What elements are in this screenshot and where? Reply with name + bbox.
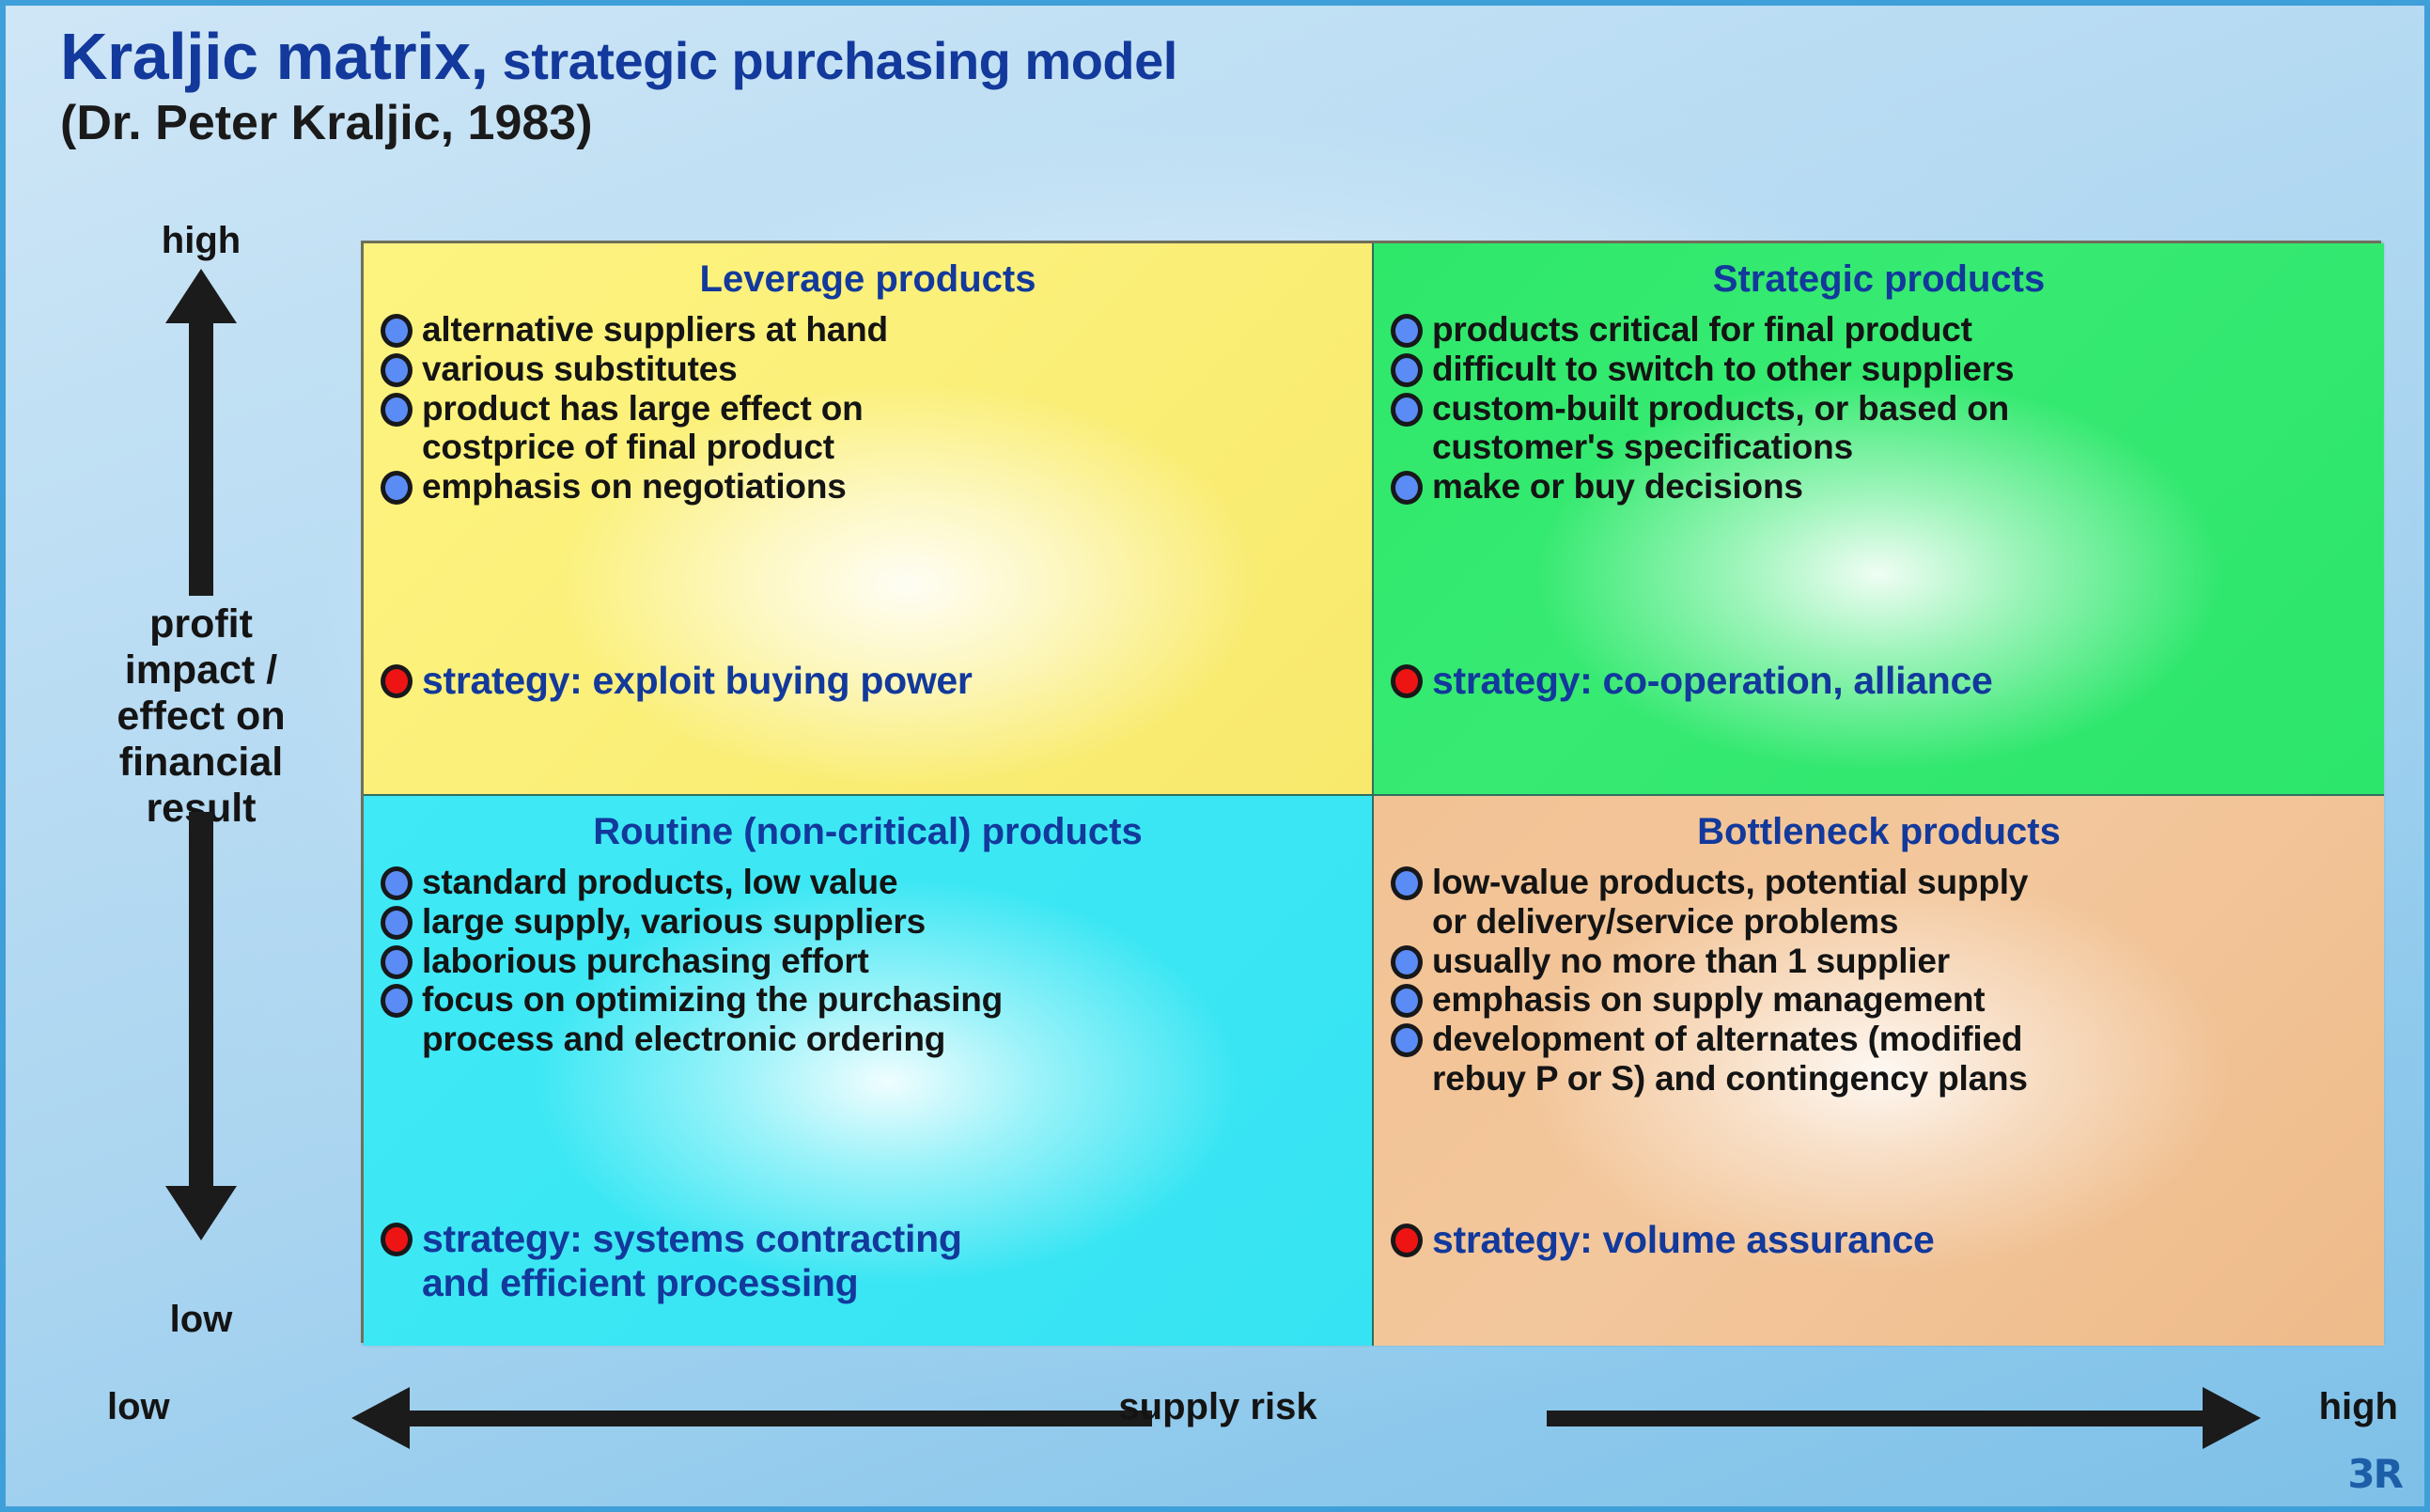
list-item-label: alternative suppliers at hand: [422, 310, 888, 350]
list-item: standard products, low value: [381, 863, 1355, 902]
list-item: or delivery/service problems: [1391, 902, 2367, 942]
bullet-list-bottleneck: low-value products, potential supply or …: [1391, 863, 2367, 1099]
strategy-label: strategy: volume assurance: [1432, 1218, 1935, 1263]
bullet-dot-icon: [1391, 314, 1423, 348]
bullet-dot-icon: [381, 471, 413, 505]
list-item-label: laborious purchasing effort: [422, 942, 869, 981]
x-axis-arrow-left-shaft: [400, 1411, 1152, 1426]
strategy-strategic: strategy: co-operation, alliance: [1391, 659, 1992, 704]
brand-logo: 3R: [2347, 1451, 2402, 1497]
list-item-label: development of alternates (modified: [1432, 1020, 2022, 1059]
title-block: Kraljic matrix, strategic purchasing mod…: [60, 23, 1658, 151]
list-item: alternative suppliers at hand: [381, 310, 1355, 350]
bullet-dot-icon: [381, 866, 413, 900]
list-item: difficult to switch to other suppliers: [1391, 350, 2367, 389]
bullet-dot-icon: [381, 314, 413, 348]
list-item: customer's specifications: [1391, 428, 2367, 467]
list-item-label: large supply, various suppliers: [422, 902, 926, 942]
list-item: rebuy P or S) and contingency plans: [1391, 1059, 2367, 1099]
list-item-label: costprice of final product: [422, 428, 834, 467]
y-axis-high-label: high: [51, 220, 351, 262]
strategy-line: strategy: co-operation, alliance: [1432, 659, 1992, 704]
list-item: large supply, various suppliers: [381, 902, 1355, 942]
strategy-label: strategy: systems contracting and effici…: [422, 1217, 962, 1306]
list-item-label: process and electronic ordering: [422, 1020, 945, 1059]
list-item: emphasis on negotiations: [381, 467, 1355, 507]
list-item-label: standard products, low value: [422, 863, 897, 902]
strategy-dot-icon: [1391, 1224, 1423, 1257]
bullet-dot-icon: [1391, 393, 1423, 427]
list-item-label: make or buy decisions: [1432, 467, 1803, 507]
arrow-right-icon: [2203, 1387, 2261, 1449]
list-item-label: low-value products, potential supply: [1432, 863, 2028, 902]
strategy-label: strategy: exploit buying power: [422, 659, 973, 704]
title-attribution: (Dr. Peter Kraljic, 1983): [60, 96, 1658, 152]
title-main: Kraljic matrix,: [60, 20, 489, 93]
list-item: development of alternates (modified: [1391, 1020, 2367, 1059]
x-axis: low supply risk high: [6, 1373, 2430, 1486]
strategy-line: strategy: volume assurance: [1432, 1218, 1935, 1263]
strategy-leverage: strategy: exploit buying power: [381, 659, 973, 704]
bullet-list-strategic: products critical for final product diff…: [1391, 310, 2367, 507]
bullet-dot-icon: [1391, 945, 1423, 979]
list-item: usually no more than 1 supplier: [1391, 942, 2367, 981]
arrow-down-icon: [165, 1186, 237, 1240]
strategy-dot-icon: [1391, 664, 1423, 698]
bullet-dot-icon: [381, 945, 413, 979]
quadrant-title-leverage: Leverage products: [381, 258, 1355, 301]
strategy-routine: strategy: systems contracting and effici…: [381, 1217, 962, 1306]
list-item: emphasis on supply management: [1391, 980, 2367, 1020]
bullet-dot-icon: [1391, 471, 1423, 505]
x-axis-label: supply risk: [1118, 1386, 1316, 1428]
list-item-label: various substitutes: [422, 350, 737, 389]
y-axis-label-line: profit: [51, 601, 351, 647]
bullet-list-leverage: alternative suppliers at hand various su…: [381, 310, 1355, 507]
y-axis-arrow-down-shaft: [189, 812, 213, 1188]
bullet-dot-icon: [381, 393, 413, 427]
list-item-label: difficult to switch to other suppliers: [1432, 350, 2014, 389]
strategy-label: strategy: co-operation, alliance: [1432, 659, 1992, 704]
quadrant-title-routine: Routine (non-critical) products: [381, 811, 1355, 853]
slide-canvas: Kraljic matrix, strategic purchasing mod…: [0, 0, 2430, 1512]
page-title: Kraljic matrix, strategic purchasing mod…: [60, 23, 1658, 92]
list-item: process and electronic ordering: [381, 1020, 1355, 1059]
quadrant-bottleneck: Bottleneck products low-value products, …: [1374, 796, 2384, 1346]
x-axis-high-label: high: [2319, 1386, 2398, 1428]
list-item-label: focus on optimizing the purchasing: [422, 980, 1003, 1020]
quadrant-leverage: Leverage products alternative suppliers …: [364, 243, 1374, 796]
strategy-line: strategy: systems contracting: [422, 1217, 962, 1262]
list-item: focus on optimizing the purchasing: [381, 980, 1355, 1020]
list-item-label: usually no more than 1 supplier: [1432, 942, 1950, 981]
y-axis: high profit impact / effect on financial…: [51, 220, 351, 1348]
list-item-label: or delivery/service problems: [1432, 902, 1898, 942]
kraljic-matrix: Leverage products alternative suppliers …: [361, 241, 2381, 1343]
list-item-label: emphasis on negotiations: [422, 467, 847, 507]
quadrant-strategic: Strategic products products critical for…: [1374, 243, 2384, 796]
bullet-dot-icon: [1391, 866, 1423, 900]
strategy-bottleneck: strategy: volume assurance: [1391, 1218, 1935, 1263]
bullet-dot-icon: [381, 353, 413, 387]
list-item-label: rebuy P or S) and contingency plans: [1432, 1059, 2028, 1099]
list-item: products critical for final product: [1391, 310, 2367, 350]
list-item: low-value products, potential supply: [1391, 863, 2367, 902]
bullet-dot-icon: [381, 984, 413, 1018]
list-item-label: products critical for final product: [1432, 310, 1972, 350]
list-item-label: customer's specifications: [1432, 428, 1853, 467]
strategy-dot-icon: [381, 664, 413, 698]
y-axis-label-line: effect on: [51, 694, 351, 740]
list-item-label: custom-built products, or based on: [1432, 389, 2009, 429]
bullet-dot-icon: [1391, 353, 1423, 387]
list-item-label: emphasis on supply management: [1432, 980, 1985, 1020]
bullet-dot-icon: [1391, 1023, 1423, 1057]
list-item: make or buy decisions: [1391, 467, 2367, 507]
title-subtitle: strategic purchasing model: [489, 31, 1177, 90]
strategy-dot-icon: [381, 1223, 413, 1256]
bullet-list-routine: standard products, low value large suppl…: [381, 863, 1355, 1059]
quadrant-title-strategic: Strategic products: [1391, 258, 2367, 301]
list-item: custom-built products, or based on: [1391, 389, 2367, 429]
y-axis-label-line: financial: [51, 740, 351, 786]
list-item-label: product has large effect on: [422, 389, 864, 429]
y-axis-label: profit impact / effect on financial resu…: [51, 601, 351, 832]
list-item: laborious purchasing effort: [381, 942, 1355, 981]
x-axis-low-label: low: [107, 1386, 170, 1428]
bullet-dot-icon: [1391, 984, 1423, 1018]
y-axis-arrow-up-shaft: [189, 314, 213, 596]
list-item: various substitutes: [381, 350, 1355, 389]
strategy-line: and efficient processing: [422, 1261, 962, 1306]
x-axis-arrow-right-shaft: [1547, 1411, 2204, 1426]
y-axis-label-line: impact /: [51, 647, 351, 694]
y-axis-low-label: low: [51, 1299, 351, 1341]
quadrant-routine: Routine (non-critical) products standard…: [364, 796, 1374, 1346]
list-item: product has large effect on: [381, 389, 1355, 429]
strategy-line: strategy: exploit buying power: [422, 659, 973, 704]
bullet-dot-icon: [381, 906, 413, 940]
list-item: costprice of final product: [381, 428, 1355, 467]
quadrant-title-bottleneck: Bottleneck products: [1391, 811, 2367, 853]
